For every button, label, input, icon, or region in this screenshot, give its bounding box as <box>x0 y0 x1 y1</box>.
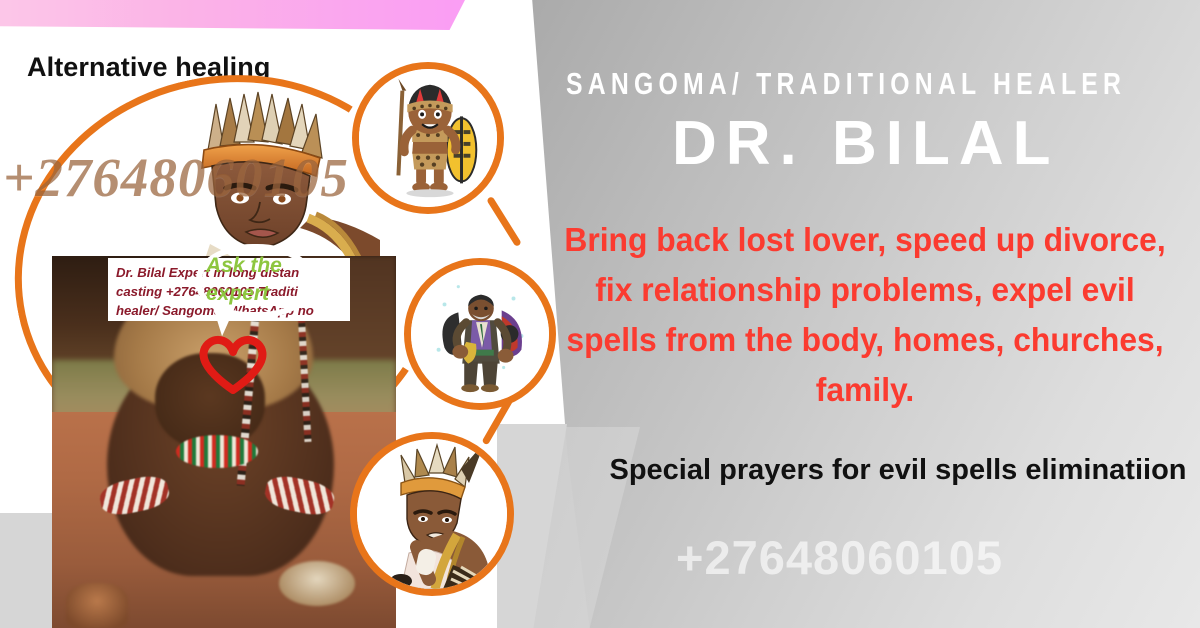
prayers-text: Special prayers for evil spells eliminat… <box>600 448 1196 493</box>
top-pink-band <box>0 0 466 30</box>
crouching-dancer-figure-icon <box>350 432 514 596</box>
phone-watermark: +27648060105 <box>676 530 1196 585</box>
subtitle-kicker: SANGOMA/ TRADITIONAL HEALER <box>566 66 1062 102</box>
services-text: Bring back lost lover, speed up divorce,… <box>556 216 1174 416</box>
zulu-warrior-cartoon-icon <box>352 62 504 214</box>
photo-phone-watermark: +27648060105 <box>3 146 349 209</box>
circle-connector-1 <box>486 196 522 247</box>
speech-bubble-label: Ask the expert <box>206 252 314 308</box>
brand-name: DR. BILAL <box>672 108 1060 179</box>
red-heart-outline-icon <box>196 332 270 394</box>
traditional-diviner-figure-icon <box>404 258 556 410</box>
poster-canvas: Alternative healing <box>0 0 1200 628</box>
